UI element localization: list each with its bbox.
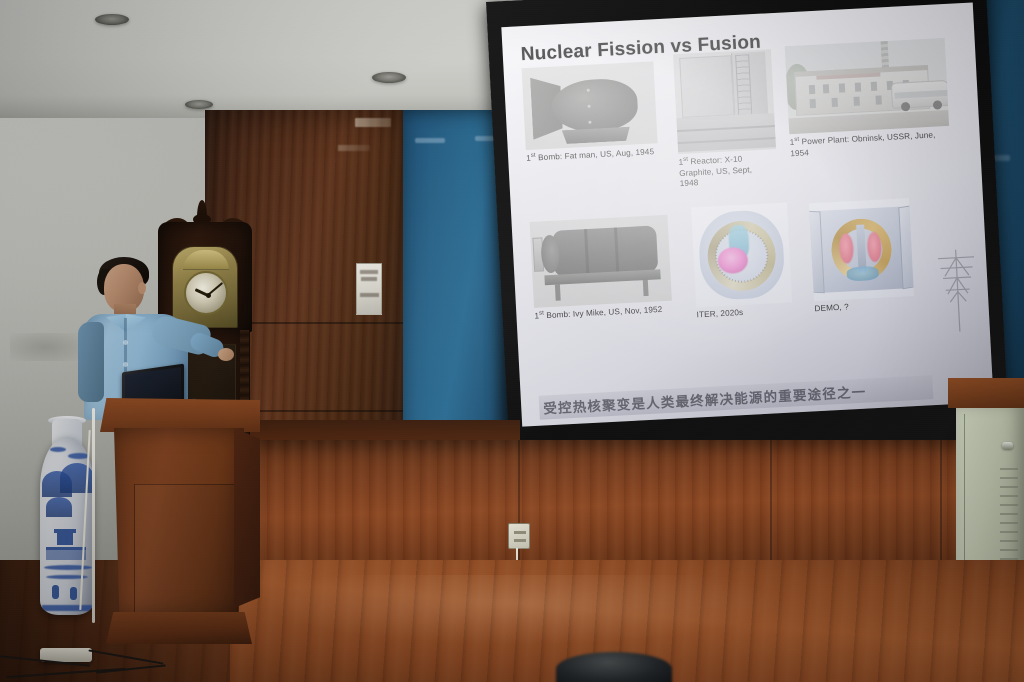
ivy-mike-image: [530, 215, 672, 308]
plant-window: [823, 84, 829, 93]
iter-tokamak-image: [691, 203, 792, 308]
wall-smudge: [10, 333, 80, 361]
cabinet-wood-top: [948, 378, 1024, 408]
ivy-tank-body: [552, 225, 658, 276]
power-lines-icon: [929, 240, 986, 335]
plant-window: [810, 99, 816, 108]
figure-caption: 1st Reactor: X-10 Graphite, US, Sept, 19…: [678, 153, 762, 190]
x10-reactor-image: [673, 49, 776, 154]
vase-motif-water: [44, 565, 92, 570]
vase-motif-cloud: [50, 447, 66, 452]
plant-window: [855, 82, 861, 91]
vase-body: [40, 437, 94, 615]
downlight-icon: [185, 100, 213, 109]
vase-motif-mountain: [60, 463, 94, 493]
foreground-object: [556, 652, 672, 682]
sign-text-line: [361, 277, 377, 281]
vase-motif-pagoda: [57, 533, 73, 545]
plant-window: [853, 97, 859, 106]
outlet-slot: [514, 531, 526, 534]
slide-figure-row-2: 1st Bomb: Ivy Mike, US, Nov, 1952 ITER, …: [530, 202, 915, 330]
cabinet-lock-icon: [1002, 442, 1013, 449]
lecture-hall-scene: Nuclear Fission vs Fusion 1st Bomb: Fat …: [0, 0, 1024, 682]
fat-man-bomb-image: [522, 61, 658, 150]
vase-motif-base-band: [42, 605, 92, 611]
wall-logo-mark-secondary: [338, 145, 370, 151]
projection-screen: Nuclear Fission vs Fusion 1st Bomb: Fat …: [486, 0, 1010, 471]
bomb-cart: [559, 126, 634, 144]
lectern-base: [106, 612, 252, 644]
vase-motif-figure: [70, 587, 77, 600]
vase-motif-railing: [46, 550, 86, 560]
obninsk-plant-image: [785, 38, 949, 134]
wall-notice-sign: [356, 263, 382, 315]
figure-x10-reactor: 1st Reactor: X-10 Graphite, US, Sept, 19…: [673, 49, 778, 190]
outlet-slot: [514, 539, 526, 542]
plant-window: [871, 82, 877, 91]
shirt-button: [123, 362, 128, 367]
figure-fat-man-bomb: 1st Bomb: Fat man, US, Aug, 1945: [522, 61, 665, 165]
vase-motif-mountain: [46, 497, 72, 517]
lectern-top: [100, 398, 260, 432]
figure-caption: ITER, 2020s: [696, 306, 786, 322]
sign-text-line: [360, 270, 378, 274]
wall-outlet: [508, 523, 530, 549]
lectern-front-panel: [110, 428, 244, 616]
screen-surface: Nuclear Fission vs Fusion 1st Bomb: Fat …: [501, 3, 993, 427]
presenter-ear: [138, 282, 146, 294]
vase-motif-figure: [52, 585, 59, 599]
wall-logo-mark: [355, 118, 391, 127]
ivy-support-leg: [643, 280, 649, 296]
slide-figure-row-1: 1st Bomb: Fat man, US, Aug, 1945 1st Rea…: [522, 46, 952, 198]
demo-reactor-image: [809, 198, 914, 301]
downlight-icon: [372, 72, 406, 83]
shirt-button: [123, 340, 128, 345]
downlight-icon: [95, 14, 129, 25]
lectern-inset-panel: [134, 484, 238, 622]
plant-window: [875, 95, 881, 104]
figure-caption: 1st Power Plant: Obninsk, USSR, June, 19…: [789, 129, 940, 159]
bomb-rivet: [588, 105, 591, 108]
slide-content: Nuclear Fission vs Fusion 1st Bomb: Fat …: [501, 3, 993, 427]
figure-iter-tokamak: ITER, 2020s: [691, 203, 793, 322]
reactor-wall-left: [679, 55, 734, 118]
reactor-base: [676, 113, 776, 152]
wooden-lectern: [100, 398, 260, 648]
figure-caption: DEMO, ?: [814, 300, 904, 316]
presenter-arm-left: [78, 322, 104, 402]
lectern-side-panel: [234, 428, 260, 608]
plant-window: [809, 85, 815, 94]
ivy-support-leg: [555, 285, 561, 301]
bus-window-band: [894, 90, 948, 99]
blue-panel-mark: [415, 138, 445, 143]
plant-window: [832, 98, 838, 107]
figure-obninsk-plant: 1st Power Plant: Obninsk, USSR, June, 19…: [785, 38, 951, 160]
figure-demo-reactor: DEMO, ?: [809, 198, 915, 315]
bomb-body: [550, 77, 639, 133]
figure-ivy-mike: 1st Bomb: Ivy Mike, US, Nov, 1952: [530, 215, 675, 323]
blue-wall-panel: [403, 110, 508, 460]
floor-reflection: [260, 575, 780, 645]
plant-bus: [891, 80, 949, 109]
plant-window: [839, 83, 845, 92]
sign-text-line: [360, 293, 379, 297]
podium-cable: [92, 408, 95, 623]
presenter-hand: [218, 348, 234, 361]
